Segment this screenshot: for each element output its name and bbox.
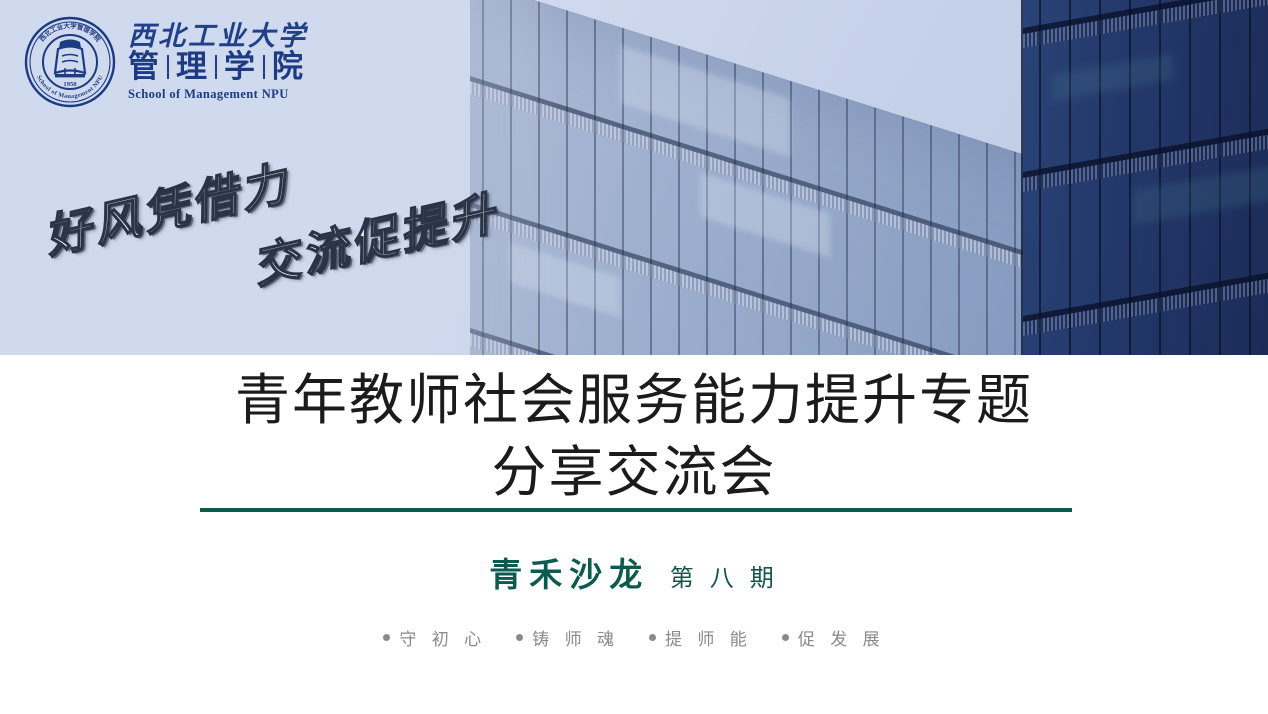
tagline-label: 铸 师 魂 bbox=[532, 625, 619, 650]
logo-wordmark: 西北工业大学 管 理 学 院 School of Management NPU bbox=[128, 22, 308, 103]
tagline-item-4: 促 发 展 bbox=[782, 625, 885, 650]
bullet-dot-icon bbox=[649, 634, 656, 641]
school-logo: 西北工业大学管理学院 School of Management NPU 1950… bbox=[24, 16, 308, 108]
salon-name: 青禾沙龙 bbox=[489, 558, 649, 594]
tagline-label: 促 发 展 bbox=[798, 625, 885, 650]
school-char-2: 理 bbox=[176, 51, 208, 84]
tagline-label: 提 师 能 bbox=[665, 625, 752, 650]
tagline-label: 守 初 心 bbox=[399, 625, 486, 650]
subtitle: 青禾沙龙 第 八 期 bbox=[0, 548, 1268, 596]
bullet-dot-icon bbox=[782, 634, 789, 641]
emblem-year-label: 1950 bbox=[63, 81, 77, 88]
tagline-item-1: 守 初 心 bbox=[383, 625, 486, 650]
title-divider bbox=[200, 508, 1072, 512]
wordmark-separator bbox=[167, 55, 169, 79]
wordmark-separator bbox=[263, 55, 265, 79]
presentation-slide: 西北工业大学管理学院 School of Management NPU 1950… bbox=[0, 0, 1268, 714]
wordmark-separator bbox=[215, 55, 217, 79]
tagline-item-3: 提 师 能 bbox=[649, 625, 752, 650]
school-name-cn: 管 理 学 院 bbox=[128, 51, 308, 84]
slide-body: 青年教师社会服务能力提升专题 分享交流会 青禾沙龙 第 八 期 守 初 心 铸 … bbox=[0, 355, 1268, 714]
page-title: 青年教师社会服务能力提升专题 分享交流会 bbox=[0, 365, 1268, 508]
npu-emblem-icon: 西北工业大学管理学院 School of Management NPU 1950 bbox=[24, 16, 116, 108]
school-char-4: 院 bbox=[272, 51, 304, 84]
title-line-1: 青年教师社会服务能力提升专题 bbox=[0, 365, 1268, 437]
tagline-list: 守 初 心 铸 师 魂 提 师 能 促 发 展 bbox=[0, 625, 1268, 650]
tagline-item-2: 铸 师 魂 bbox=[516, 625, 619, 650]
salon-issue: 第 八 期 bbox=[670, 566, 779, 592]
university-name: 西北工业大学 bbox=[128, 22, 308, 50]
bullet-dot-icon bbox=[383, 634, 390, 641]
facade-left-panel bbox=[470, 0, 1090, 355]
header-banner: 西北工业大学管理学院 School of Management NPU 1950… bbox=[0, 0, 1268, 355]
school-char-3: 学 bbox=[224, 51, 256, 84]
facade-right-panel bbox=[1023, 0, 1268, 355]
school-name-en: School of Management NPU bbox=[128, 87, 308, 102]
title-line-2: 分享交流会 bbox=[0, 437, 1268, 509]
school-char-1: 管 bbox=[128, 51, 160, 84]
bullet-dot-icon bbox=[516, 634, 523, 641]
